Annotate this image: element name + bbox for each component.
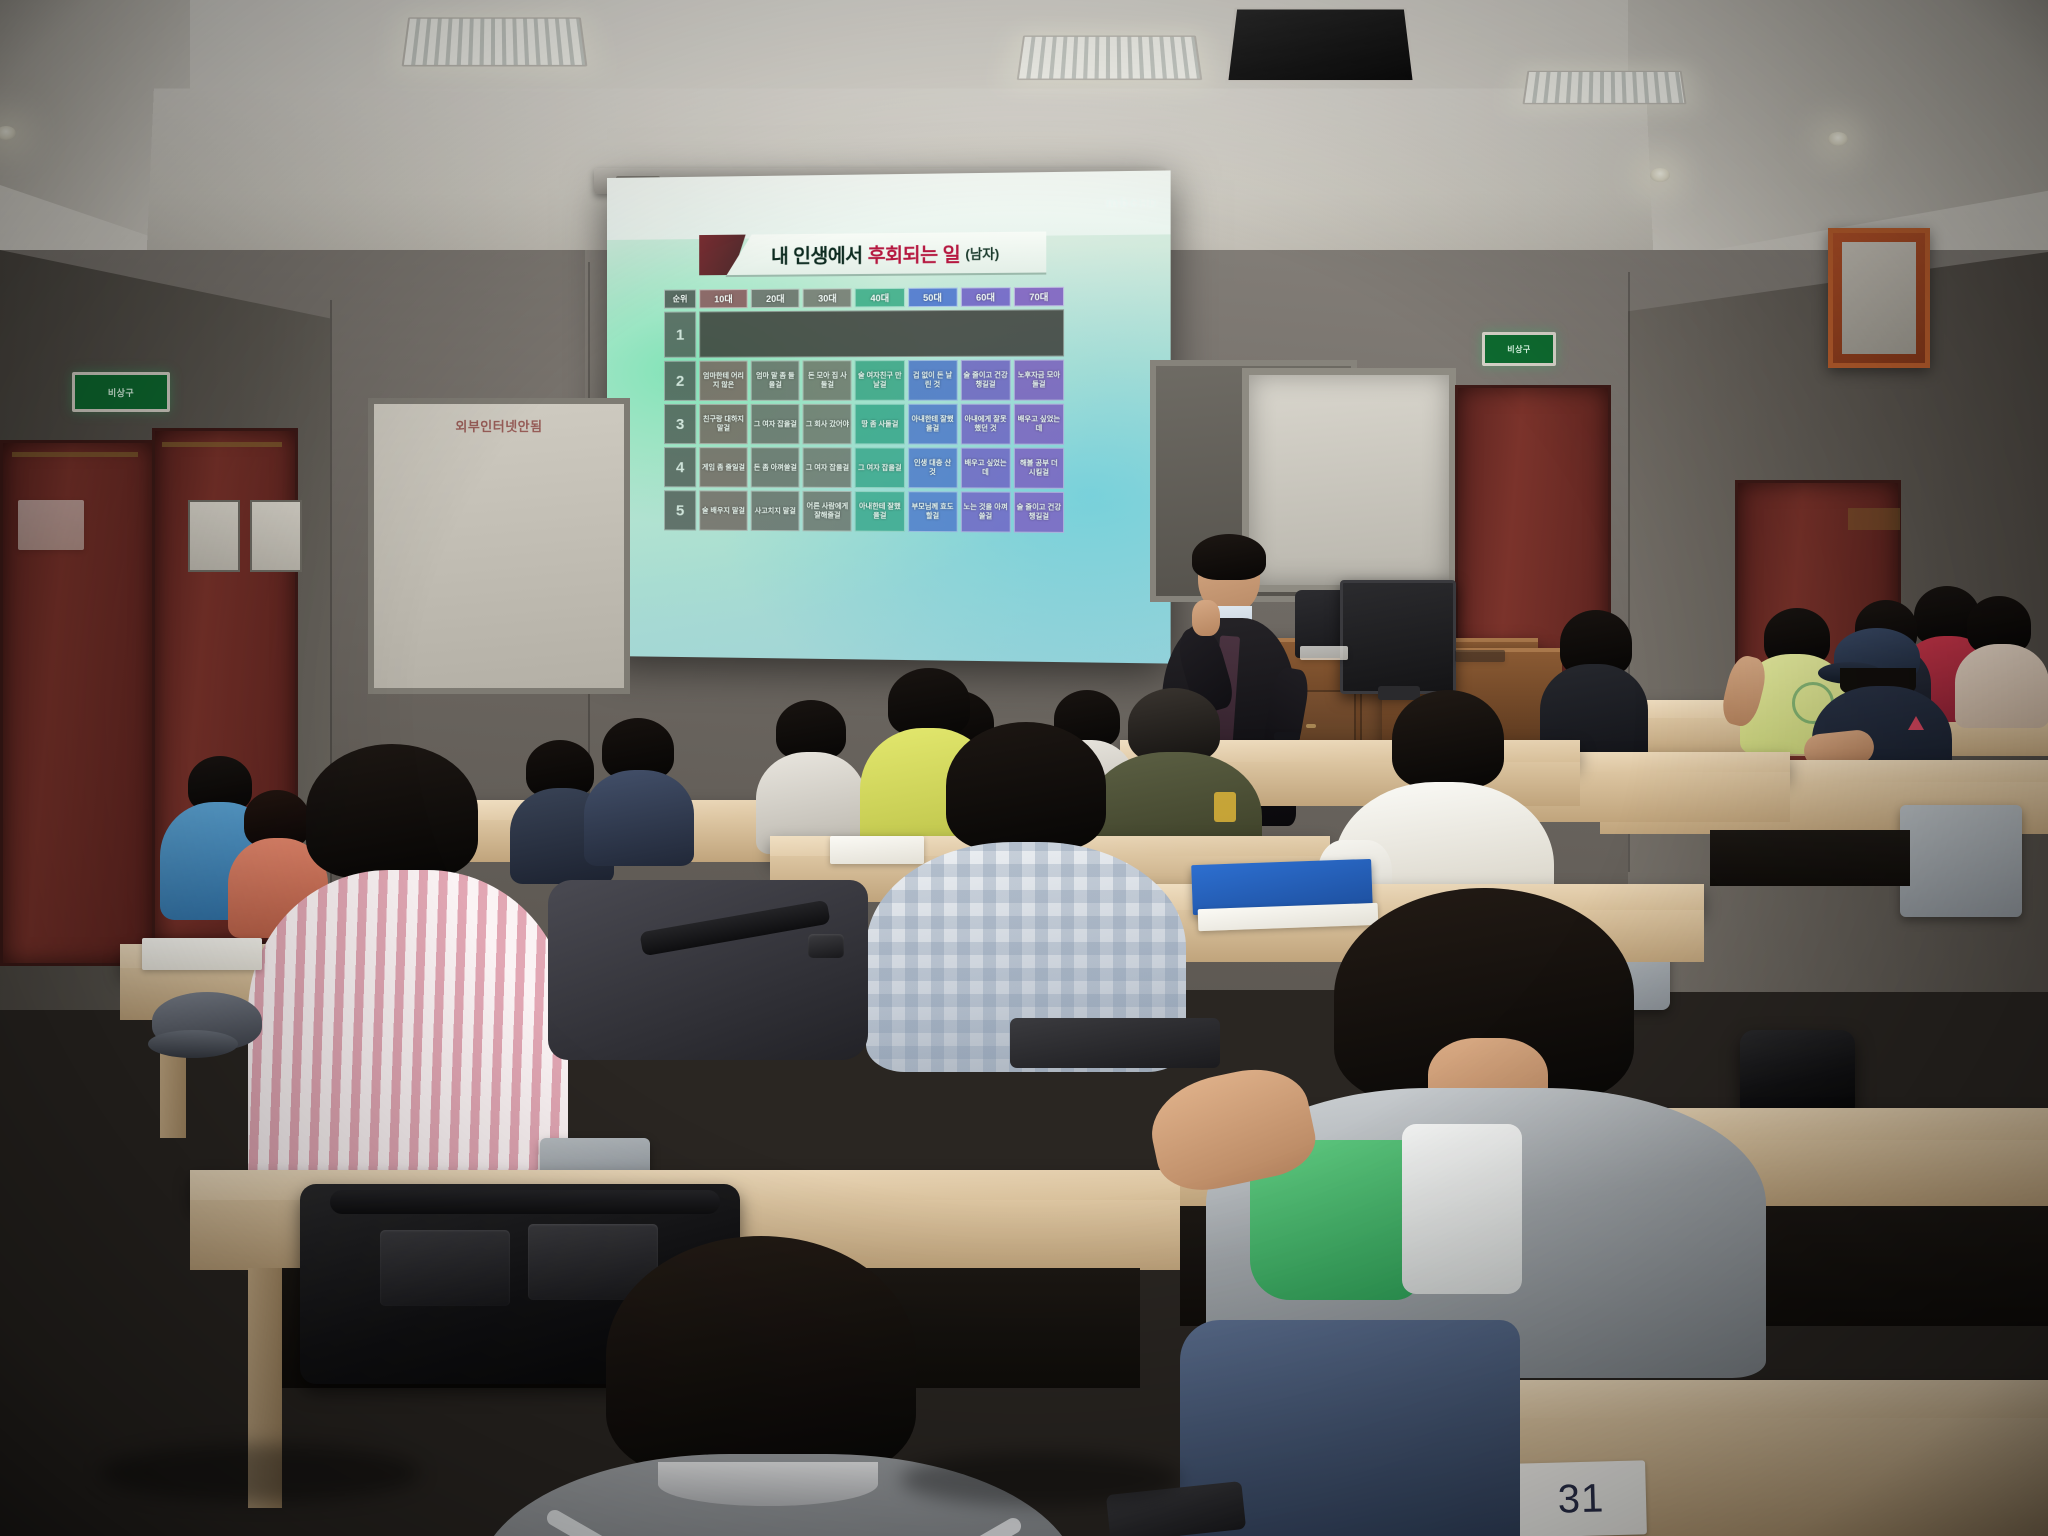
slide-r3-c6: 아내에게 잘못했던 것	[961, 404, 1011, 445]
mbc-logo-text: mbc	[1105, 194, 1139, 211]
student-checkered-hair	[946, 722, 1106, 850]
slide-r2-c2: 엄마 말 좀 들을걸	[751, 360, 800, 400]
door-notice-paper	[18, 500, 84, 550]
exit-sign-left: 비상구	[72, 372, 170, 412]
door-poster-2	[250, 500, 302, 572]
slide-title-part1: 내 인생에서	[771, 240, 863, 268]
slide-r4-c5: 인생 대충 산 것	[908, 448, 958, 489]
slide-r3-c4: 땅 좀 사둘걸	[855, 404, 904, 445]
slide-table-row-4: 4 게임 좀 줄일걸 돈 좀 아껴쓸걸 그 여자 잡을걸 그 여자 잡을걸 인생…	[664, 447, 1064, 489]
slide-r5-c7: 술 줄이고 건강챙길걸	[1014, 492, 1064, 533]
floor-shadow-2	[900, 1452, 1180, 1506]
left-door-trim-1	[12, 452, 138, 457]
slide-r2-c3: 돈 모아 집 사둘걸	[803, 360, 852, 401]
student-pink-body	[248, 870, 568, 1194]
desk-plate-31: 31	[1515, 1460, 1647, 1536]
mbc-logo-hd: HD	[1139, 197, 1158, 210]
door-poster-1	[188, 500, 240, 572]
wall-picture-frame-inner	[1842, 242, 1916, 354]
ceiling-panel-light-3	[1522, 71, 1686, 104]
student-olive-badge	[1214, 792, 1236, 822]
ceiling-downlight-right-2	[1650, 168, 1670, 182]
slide-col-20s: 20대	[751, 289, 800, 309]
student-pink-hair	[306, 744, 478, 878]
exit-sign-right: 비상구	[1482, 332, 1556, 366]
slide-r4-c1: 게임 좀 줄일걸	[699, 447, 748, 487]
slide-rank-5: 5	[664, 490, 696, 530]
bag-buckle-center	[808, 934, 844, 958]
wall-picture-frame	[1828, 228, 1930, 368]
slide-rank-2: 2	[664, 361, 696, 401]
slide-r2-c1: 엄마한테 어리지 않은	[699, 361, 748, 401]
papers-left-mid	[142, 938, 262, 970]
ceiling-panel-light-2	[1017, 35, 1203, 80]
student-back-center-1	[756, 700, 866, 850]
slide-col-60s: 60대	[961, 287, 1011, 307]
student-far-right-2-body	[1955, 644, 2048, 728]
slide-table-row-2: 2 엄마한테 어리지 않은 엄마 말 좀 들을걸 돈 모아 집 사둘걸 술 여자…	[664, 360, 1064, 401]
slide-col-10s: 10대	[699, 289, 748, 308]
student-foreground-right-white-panel	[1402, 1124, 1522, 1294]
slide-rank-1: 1	[664, 311, 696, 357]
slide-r3-c5: 아내한테 잘했을걸	[908, 404, 958, 445]
slide-table-row-5: 5 술 배우지 말걸 사고치지 말걸 어른 사람에게 잘해줄걸 아내한테 잘했을…	[664, 490, 1064, 533]
slide-table-row-1: 1	[664, 309, 1064, 358]
student-back-left-4	[584, 718, 694, 860]
slide-r5-c3: 어른 사람에게 잘해줄걸	[803, 491, 852, 532]
desk-plate-31-number: 31	[1557, 1476, 1605, 1522]
student-checkered-shirt	[866, 722, 1186, 1062]
slide-col-40s: 40대	[855, 288, 904, 308]
slide-survey-table: 순위 10대 20대 30대 40대 50대 60대 70대 1 2 엄마한테 …	[664, 287, 1064, 536]
slide-r2-c4: 술 여자친구 만날걸	[855, 360, 904, 401]
exit-sign-left-text: 비상구	[108, 386, 134, 399]
chair-far-right[interactable]	[1900, 805, 2022, 917]
slide-table-row-3: 3 친구랑 대하지 말걸 그 여자 잡을걸 그 회사 갔어야 땅 좀 사둘걸 아…	[664, 404, 1064, 445]
slide-r5-c1: 술 배우지 말걸	[699, 490, 748, 531]
slide-table-header-row: 순위 10대 20대 30대 40대 50대 60대 70대	[664, 287, 1064, 309]
grey-cap-on-desk-brim	[148, 1030, 238, 1058]
right-door-label	[1848, 508, 1900, 530]
slide-r5-c4: 아내한테 잘했을걸	[855, 491, 904, 532]
slide-r3-c7: 배우고 싶었는데	[1014, 404, 1064, 445]
chair-checkered[interactable]	[1010, 1018, 1220, 1068]
slide-r4-c3: 그 여자 잡을걸	[803, 447, 852, 488]
notice-board: 외부인터넷안됨	[368, 398, 630, 694]
student-foreground-right	[1206, 888, 1766, 1318]
slide-title-part2: 후회되는 일	[868, 239, 961, 267]
slide-title-part3: (남자)	[965, 243, 999, 263]
slide-r4-c4: 그 여자 잡을걸	[855, 447, 904, 488]
slide-r4-c2: 돈 좀 아껴쓸걸	[751, 447, 800, 488]
presenter-hair	[1192, 534, 1266, 580]
slide-col-50s: 50대	[908, 287, 958, 307]
slide-r2-c5: 겁 없이 돈 날린 것	[908, 360, 958, 401]
student-back-left-4-body	[584, 770, 694, 866]
projection-screen: 내 인생에서 후회되는 일 (남자) mbcHD 순위 10대 20대 30대 …	[607, 170, 1171, 663]
student-foreground-grey-hair	[606, 1236, 916, 1476]
slide-r4-c7: 해볼 공부 더 시킬걸	[1014, 448, 1064, 489]
slide-rank-header: 순위	[664, 289, 696, 308]
exit-sign-right-text: 비상구	[1507, 344, 1531, 355]
front-monitor	[1340, 580, 1456, 694]
student-white-hair	[1392, 690, 1504, 788]
slide-r2-c7: 노후자금 모아둘걸	[1014, 360, 1064, 401]
ceiling-air-vent	[1225, 7, 1416, 82]
slide-r4-c6: 배우고 싶었는데	[961, 448, 1011, 489]
lecture-hall-photo: 내 인생에서 후회되는 일 (남자) mbcHD 순위 10대 20대 30대 …	[0, 0, 2048, 1536]
mbc-logo: mbcHD	[1105, 193, 1157, 210]
slide-r5-c5: 부모님께 효도할걸	[908, 491, 958, 532]
student-foreground-grey-collar	[658, 1462, 878, 1506]
slide-r5-c6: 노는 것을 아껴쓸걸	[961, 491, 1011, 532]
slide-col-70s: 70대	[1014, 287, 1064, 307]
slide-r3-c3: 그 회사 갔어야	[803, 404, 852, 445]
slide-r3-c2: 그 여자 잡을걸	[751, 404, 800, 444]
slide-title-banner: 내 인생에서 후회되는 일 (남자)	[725, 232, 1046, 278]
ceiling-panel-light-1	[402, 17, 588, 66]
slide-rank-4: 4	[664, 447, 696, 487]
slide-top-white-band	[607, 170, 1171, 240]
slide-r5-c2: 사고치지 말걸	[751, 491, 800, 532]
presenter-right-hand	[1192, 600, 1220, 636]
student-back-center-1-hair	[776, 700, 846, 760]
bag-handle	[330, 1190, 720, 1214]
undershelf-far-right	[1710, 830, 1910, 886]
left-door-trim-2	[162, 442, 282, 447]
student-pink-striped	[248, 744, 568, 1184]
front-desk-keyboard-area	[1455, 650, 1505, 662]
slide-rank-3: 3	[664, 404, 696, 444]
student-far-right-2	[1955, 596, 2048, 724]
slide-r3-c1: 친구랑 대하지 말걸	[699, 404, 748, 444]
slide-r2-c6: 술 줄이고 건강챙길걸	[961, 360, 1011, 401]
ceiling-downlight-right-1	[1828, 132, 1848, 146]
notice-board-text: 외부인터넷안됨	[455, 416, 542, 435]
slide-row-1-blank	[699, 309, 1064, 357]
slide-col-30s: 30대	[803, 288, 852, 308]
floor-shadow-1	[100, 1444, 420, 1502]
